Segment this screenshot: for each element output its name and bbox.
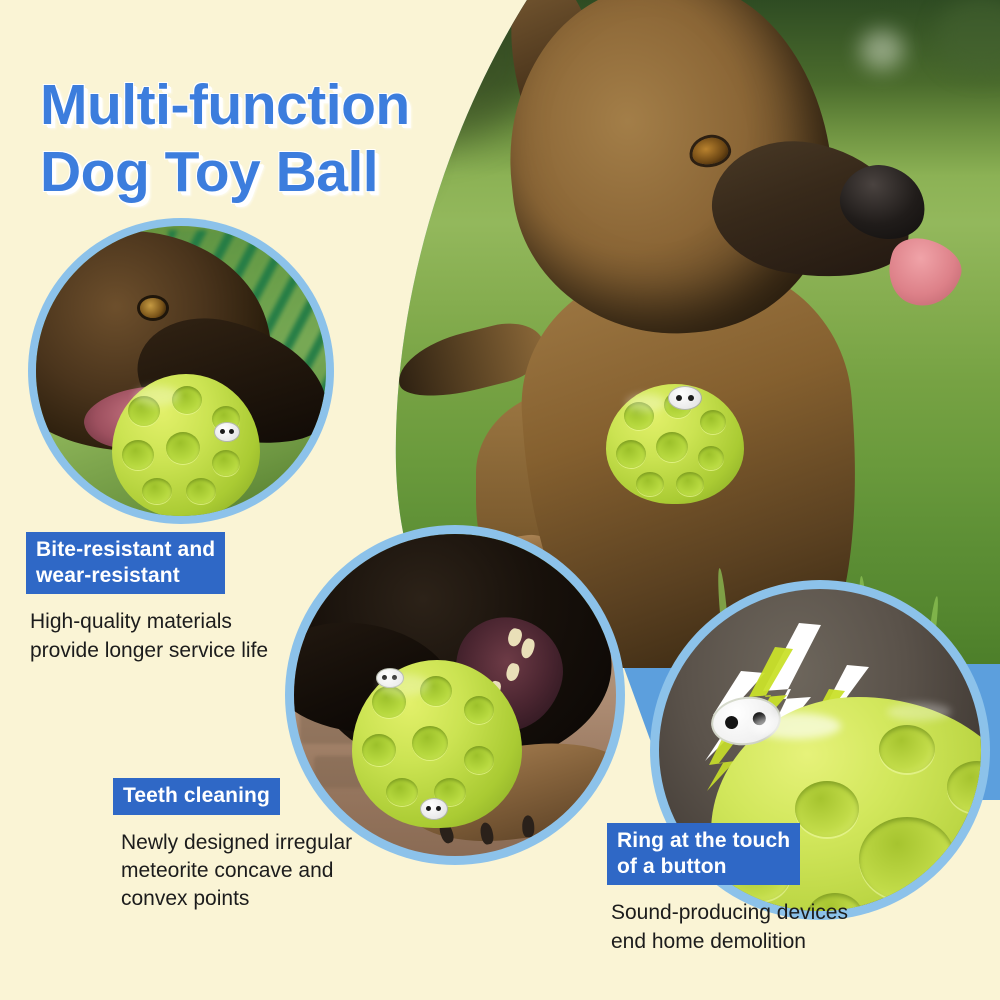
title-line-1: Multi-function [40, 73, 410, 137]
feature-tag-line-1: Bite-resistant and [36, 538, 215, 561]
dog-eye [140, 298, 166, 318]
feature-block-bite-resistant: Bite-resistant and wear-resistant High-q… [26, 532, 326, 665]
ball-sound-button [668, 386, 702, 410]
product-poster: Multi-function Dog Toy Ball Bite-resista… [0, 0, 1000, 1000]
bokeh-highlight [936, 0, 1000, 76]
feature-block-ring-button: Ring at the touch of a button Sound-prod… [607, 823, 937, 956]
feature-description-teeth-cleaning: Newly designed irregular meteorite conca… [121, 829, 413, 914]
feature-description-bite-resistant: High-quality materials provide longer se… [30, 608, 326, 665]
feature-tag-line-2: of a button [617, 854, 790, 880]
page-title: Multi-function Dog Toy Ball [40, 72, 560, 205]
feature-tag-line-1: Teeth cleaning [123, 784, 270, 807]
feature-tag-teeth-cleaning: Teeth cleaning [113, 778, 280, 815]
title-line-2: Dog Toy Ball [40, 139, 560, 206]
toy-ball [112, 374, 260, 516]
feature-tag-line-1: Ring at the touch [617, 829, 790, 852]
feature-tag-ring-button: Ring at the touch of a button [607, 823, 800, 885]
feature-description-ring-button: Sound-producing devices end home demolit… [611, 899, 937, 956]
feature-tag-bite-resistant: Bite-resistant and wear-resistant [26, 532, 225, 594]
feature-desc-line-2: provide longer service life [30, 637, 326, 665]
bokeh-highlight [860, 30, 904, 70]
feature-desc-line-2: end home demolition [611, 928, 937, 956]
feature-desc-line-1: Sound-producing devices [611, 899, 937, 927]
toy-ball-hero [606, 384, 744, 504]
feature-desc-line-1: Newly designed irregular [121, 829, 413, 857]
ball-sound-button [214, 422, 240, 442]
ball-sound-button [420, 798, 448, 820]
feature-desc-line-3: convex points [121, 885, 413, 913]
inset-photo-bite-resistant [28, 218, 334, 524]
feature-desc-line-2: meteorite concave and [121, 857, 413, 885]
feature-block-teeth-cleaning: Teeth cleaning Newly designed irregular … [113, 778, 413, 914]
feature-tag-line-2: wear-resistant [36, 563, 215, 589]
feature-desc-line-1: High-quality materials [30, 608, 326, 636]
